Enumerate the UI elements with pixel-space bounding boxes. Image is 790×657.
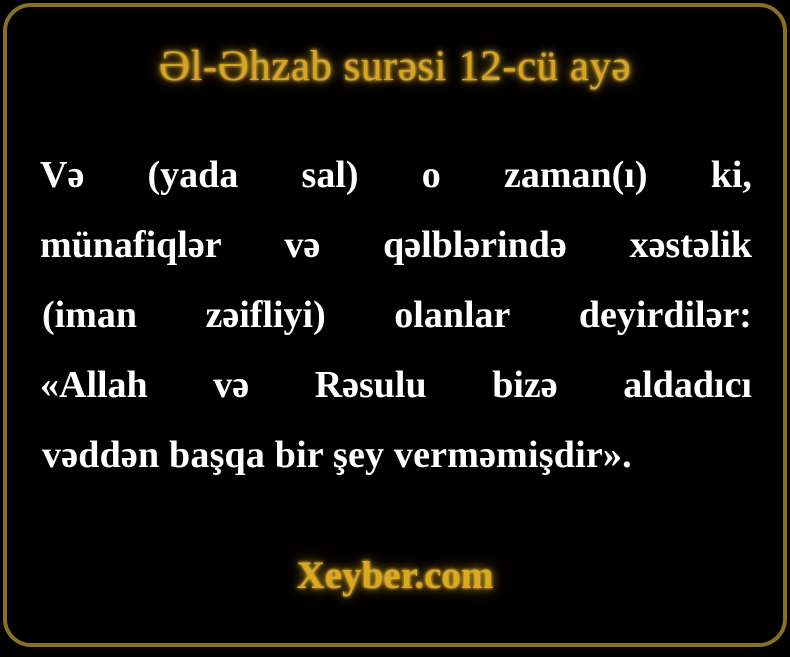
card-content: Əl-Əhzab surəsi 12-cü ayə Və(yadasal)oza… xyxy=(0,0,790,657)
verse-line: münafiqlərvəqəlblərindəxəstəlik xyxy=(40,210,752,280)
verse-word: «Allah xyxy=(40,350,148,420)
verse-line: «AllahvəRəsulubizəaldadıcı xyxy=(40,350,752,420)
verse-word: ki, xyxy=(711,140,752,210)
verse-line: Və(yadasal)ozaman(ı)ki, xyxy=(40,140,752,210)
verse-word: olanlar xyxy=(394,280,510,350)
verse-word: aldadıcı xyxy=(623,350,752,420)
verse-word: Və xyxy=(40,140,84,210)
verse-word: zaman(ı) xyxy=(504,140,648,210)
verse-card: Əl-Əhzab surəsi 12-cü ayə Və(yadasal)oza… xyxy=(0,0,790,657)
verse-word: münafiqlər xyxy=(40,210,222,280)
verse-word: bizə xyxy=(492,350,557,420)
verse-word: və xyxy=(284,210,320,280)
verse-line: vəddən başqa bir şey verməmişdir». xyxy=(40,420,752,490)
verse-word: Rəsulu xyxy=(315,350,427,420)
verse-word: deyirdilər: xyxy=(579,280,752,350)
site-watermark: Xeyber.com xyxy=(0,552,790,600)
verse-word: qəlblərində xyxy=(383,210,567,280)
page-title: Əl-Əhzab surəsi 12-cü ayə xyxy=(0,40,790,94)
verse-word: sal) xyxy=(302,140,359,210)
verse-word: xəstəlik xyxy=(630,210,752,280)
verse-word: zəifliyi) xyxy=(206,280,326,350)
verse-line: (imanzəifliyi)olanlardeyirdilər: xyxy=(40,280,752,350)
verse-word: (yada xyxy=(148,140,239,210)
verse-word: (iman xyxy=(42,280,137,350)
verse-text-block: Və(yadasal)ozaman(ı)ki,münafiqlərvəqəlbl… xyxy=(40,140,752,490)
verse-word: və xyxy=(213,350,249,420)
verse-word: o xyxy=(422,140,441,210)
